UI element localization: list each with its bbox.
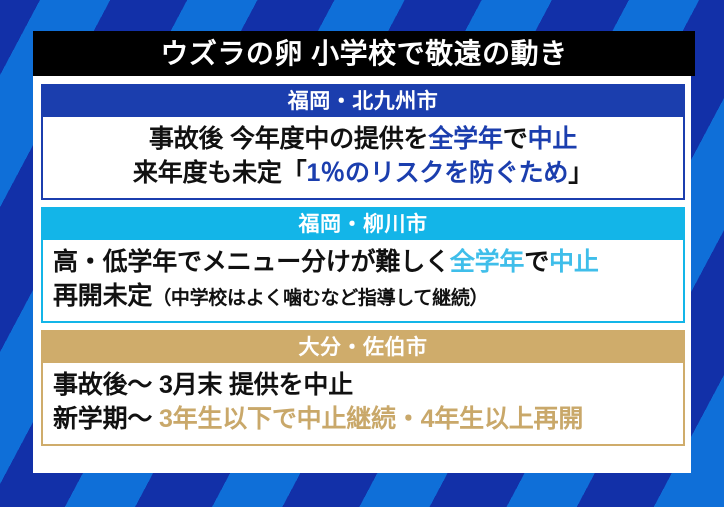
text-run: で	[524, 248, 549, 276]
infographic-root: ウズラの卵 小学校で敬遠の動き 福岡・北九州市 事故後 今年度中の提供を全学年で…	[0, 0, 724, 507]
section-body-yanagawa: 高・低学年でメニュー分けが難しく全学年で中止 再開未定（中学校はよく噛むなど指導…	[43, 240, 683, 321]
text-run-highlight: 3年生以下で中止継続・4年生以上再開	[159, 405, 583, 433]
text-run: 新学期〜	[53, 405, 159, 433]
body-line: 再開未定（中学校はよく噛むなど指導して継続）	[53, 280, 673, 314]
section-heading-yanagawa: 福岡・柳川市	[43, 209, 683, 240]
text-run: 再開未定	[53, 282, 152, 310]
text-run: 」	[568, 159, 593, 187]
section-body-kitakyushu: 事故後 今年度中の提供を全学年で中止 来年度も未定「1％のリスクを防ぐため」	[43, 117, 683, 198]
title-bar: ウズラの卵 小学校で敬遠の動き	[33, 31, 695, 76]
body-line: 新学期〜 3年生以下で中止継続・4年生以上再開	[53, 403, 673, 437]
section-body-saiki: 事故後〜 3月末 提供を中止 新学期〜 3年生以下で中止継続・4年生以上再開	[43, 363, 683, 444]
section-kitakyushu: 福岡・北九州市 事故後 今年度中の提供を全学年で中止 来年度も未定「1％のリスク…	[41, 84, 685, 200]
text-run-highlight: 全学年	[450, 248, 524, 276]
text-run-highlight: 中止	[528, 125, 578, 153]
section-saiki: 大分・佐伯市 事故後〜 3月末 提供を中止 新学期〜 3年生以下で中止継続・4年…	[41, 330, 685, 446]
sections-container: 福岡・北九州市 事故後 今年度中の提供を全学年で中止 来年度も未定「1％のリスク…	[41, 84, 685, 453]
body-line: 高・低学年でメニュー分けが難しく全学年で中止	[53, 246, 673, 280]
text-run: 来年度も未定「	[133, 159, 307, 187]
section-yanagawa: 福岡・柳川市 高・低学年でメニュー分けが難しく全学年で中止 再開未定（中学校はよ…	[41, 207, 685, 323]
body-line: 事故後 今年度中の提供を全学年で中止	[53, 123, 673, 157]
body-line: 来年度も未定「1％のリスクを防ぐため」	[53, 157, 673, 191]
text-run: 事故後〜 3月末 提供を中止	[53, 371, 353, 399]
body-line: 事故後〜 3月末 提供を中止	[53, 369, 673, 403]
text-run: 高・低学年でメニュー分けが難しく	[53, 248, 450, 276]
text-run-highlight: 1％のリスクを防ぐため	[307, 159, 569, 187]
text-run: で	[503, 125, 528, 153]
text-run-highlight: 全学年	[428, 125, 502, 153]
text-run-highlight: 中止	[549, 248, 599, 276]
page-title: ウズラの卵 小学校で敬遠の動き	[160, 40, 567, 68]
text-run-note: （中学校はよく噛むなど指導して継続）	[152, 288, 488, 309]
section-heading-kitakyushu: 福岡・北九州市	[43, 86, 683, 117]
section-heading-saiki: 大分・佐伯市	[43, 332, 683, 363]
text-run: 事故後 今年度中の提供を	[149, 125, 429, 153]
